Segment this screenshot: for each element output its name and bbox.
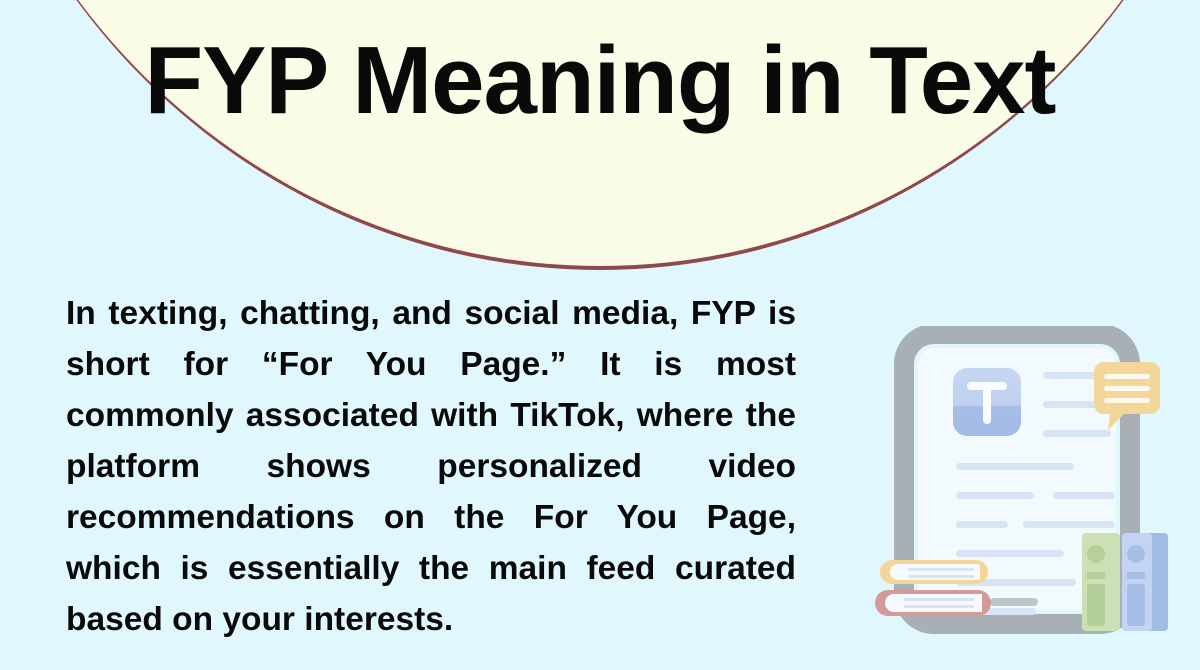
infographic-page: FYP Meaning in Text In texting, chatting… xyxy=(0,0,1200,670)
page-title: FYP Meaning in Text xyxy=(0,26,1200,136)
tablet-document-illustration xyxy=(868,326,1188,670)
body-paragraph: In texting, chatting, and social media, … xyxy=(66,288,796,645)
app-icon-t xyxy=(953,368,1021,436)
binder-green-icon xyxy=(1082,533,1120,631)
binder-blue-icon xyxy=(1122,533,1168,631)
tablet-bottom-bezel xyxy=(990,598,1038,606)
book-top-icon xyxy=(880,560,988,584)
book-bottom-icon xyxy=(875,590,991,616)
